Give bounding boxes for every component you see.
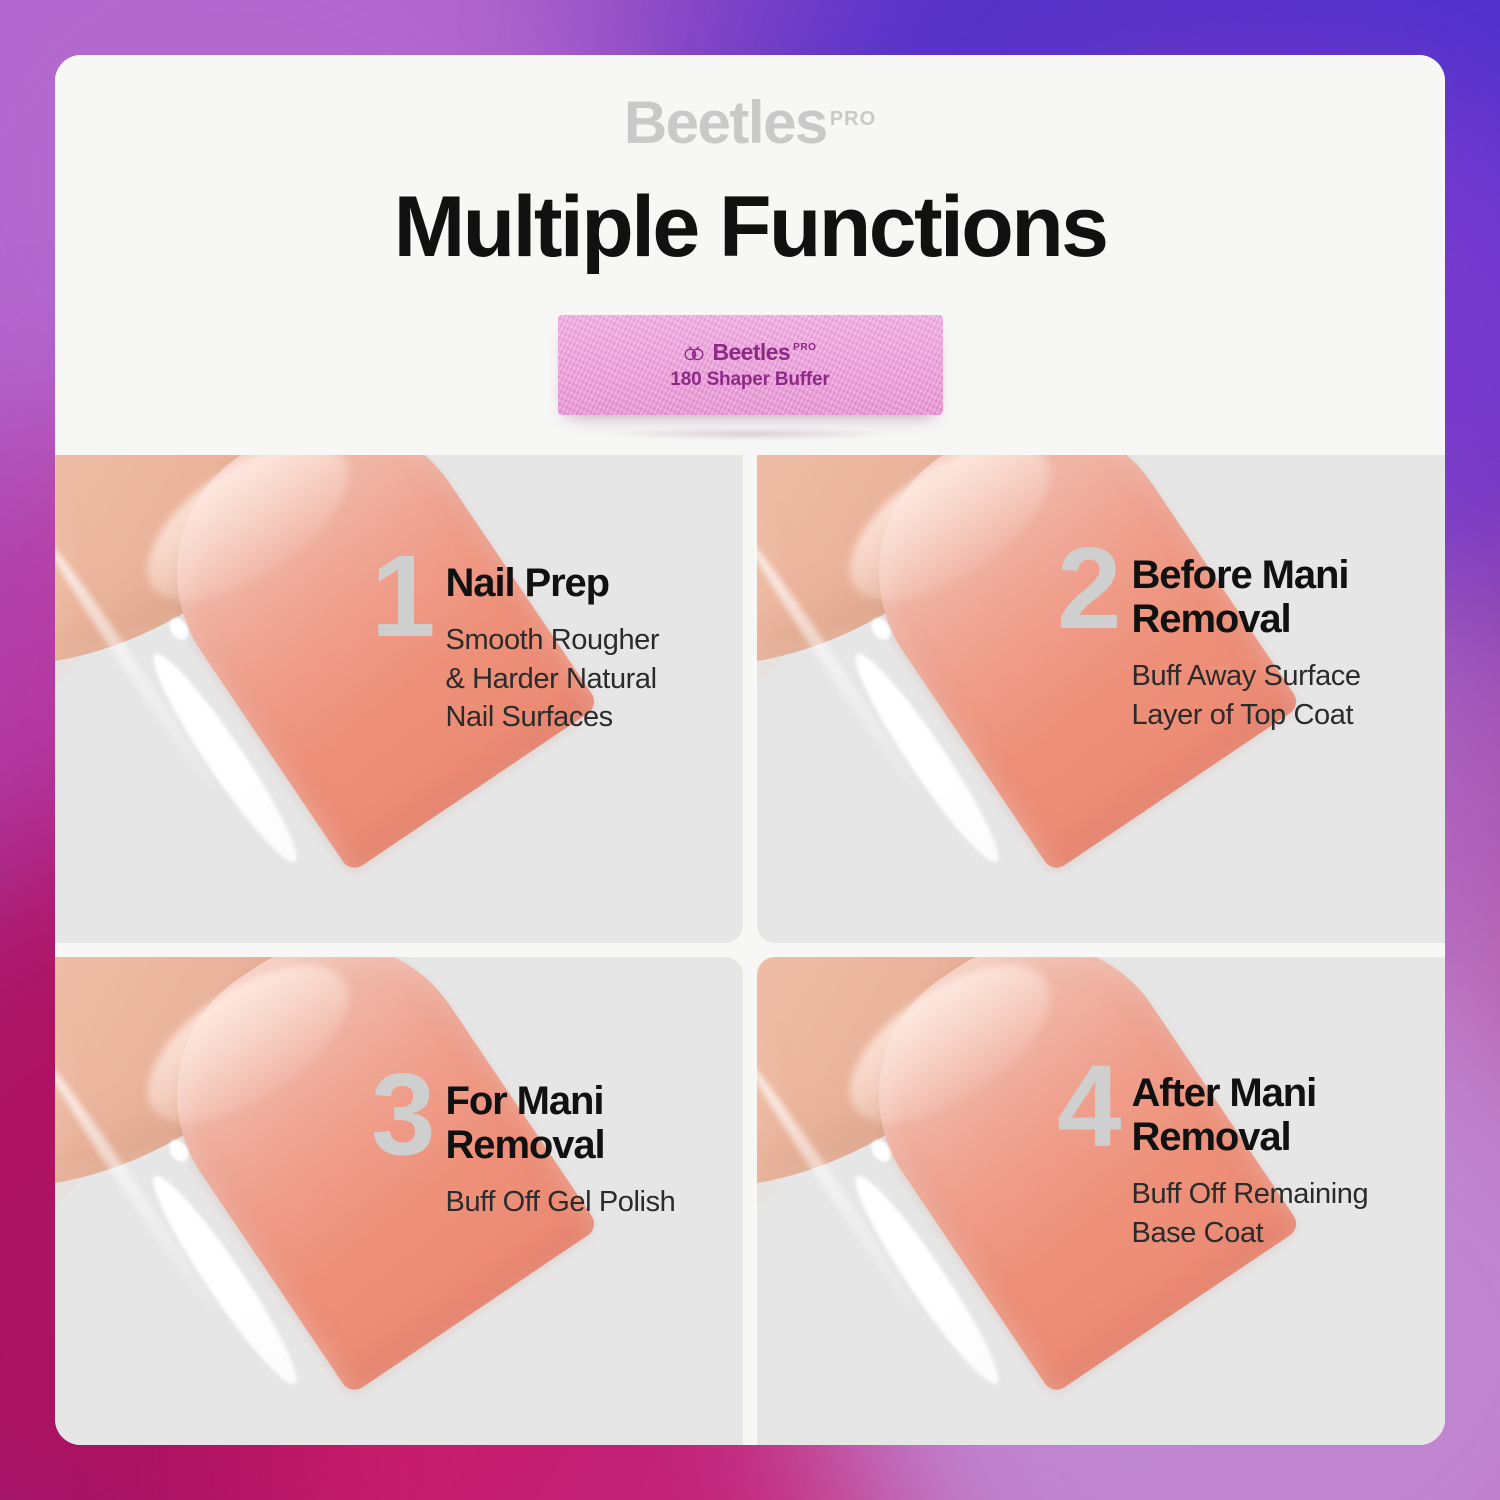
brand-logo: BeetlesPRO [55,93,1445,153]
brand-logo-name: Beetles [624,89,827,156]
step-body-4: Buff Off Remaining Base Coat [1132,1175,1369,1252]
step-heading-2: Before Mani Removal [1132,553,1361,641]
step-panel-4: 4 After Mani Removal Buff Off Remaining … [757,957,1445,1445]
nail-cuticle [122,455,374,632]
step-body-3: Buff Off Gel Polish [446,1183,676,1222]
nail-gloss-streak [842,644,1012,871]
nail-cuticle [824,957,1076,1154]
step-heading-3: For Mani Removal [446,1079,676,1167]
product-logo-name: Beetles [712,341,790,364]
step-body-1: Smooth Rougher & Harder Natural Nail Sur… [446,621,660,737]
step-number-3: 3 [371,1065,432,1165]
step-heading-4: After Mani Removal [1132,1071,1369,1159]
step-panel-3: 3 For Mani Removal Buff Off Gel Polish [55,957,743,1445]
step-1: 1 Nail Prep Smooth Rougher & Harder Natu… [371,555,659,737]
step-4: 4 After Mani Removal Buff Off Remaining … [1057,1065,1368,1252]
finger-shading [55,455,157,762]
nail-edge-highlight [55,1059,220,1316]
step-3: 3 For Mani Removal Buff Off Gel Polish [371,1073,675,1222]
step-panel-1: 1 Nail Prep Smooth Rougher & Harder Natu… [55,455,743,943]
nail-gloss-streak [140,644,310,871]
step-heading-1: Nail Prep [446,561,660,605]
nail-gloss-dot [868,615,895,644]
fingertip-shape [55,455,416,748]
product-drop-shadow [55,427,1445,441]
product-logo-pro: PRO [793,342,816,353]
steps-grid: 1 Nail Prep Smooth Rougher & Harder Natu… [55,455,1445,1445]
nail-edge-highlight [757,1059,922,1316]
nail-gloss-streak [140,1166,310,1393]
fingertip-shape [55,957,416,1270]
finger-shading [55,957,157,1284]
step-number-2: 2 [1057,539,1118,639]
step-number-1: 1 [371,547,432,647]
step-2: 2 Before Mani Removal Buff Away Surface … [1057,547,1361,734]
card-header: BeetlesPRO Multiple Functions Beetles [55,55,1445,455]
nail-cuticle [824,455,1076,632]
step-body-2: Buff Away Surface Layer of Top Coat [1132,657,1361,734]
step-panel-2: 2 Before Mani Removal Buff Away Surface … [757,455,1445,943]
step-number-4: 4 [1057,1057,1118,1157]
nail-gloss-dot [166,1137,193,1166]
nail-gloss-dot [166,615,193,644]
beetle-icon [683,343,705,363]
nail-gloss-streak [842,1166,1012,1393]
finger-shading [757,455,859,762]
product-buffer-block: Beetles PRO 180 Shaper Buffer [558,315,943,415]
infographic-card: BeetlesPRO Multiple Functions Beetles [55,55,1445,1445]
product-label: 180 Shaper Buffer [670,370,829,389]
brand-logo-pro: PRO [830,108,876,130]
page-title: Multiple Functions [55,182,1445,273]
nail-edge-highlight [757,537,922,794]
finger-shading [757,957,859,1284]
nail-gloss-dot [868,1137,895,1166]
nail-cuticle [122,957,374,1154]
nail-edge-highlight [55,537,220,794]
product-logo-row: Beetles PRO [683,341,816,364]
product-image-wrap: Beetles PRO 180 Shaper Buffer [55,315,1445,415]
